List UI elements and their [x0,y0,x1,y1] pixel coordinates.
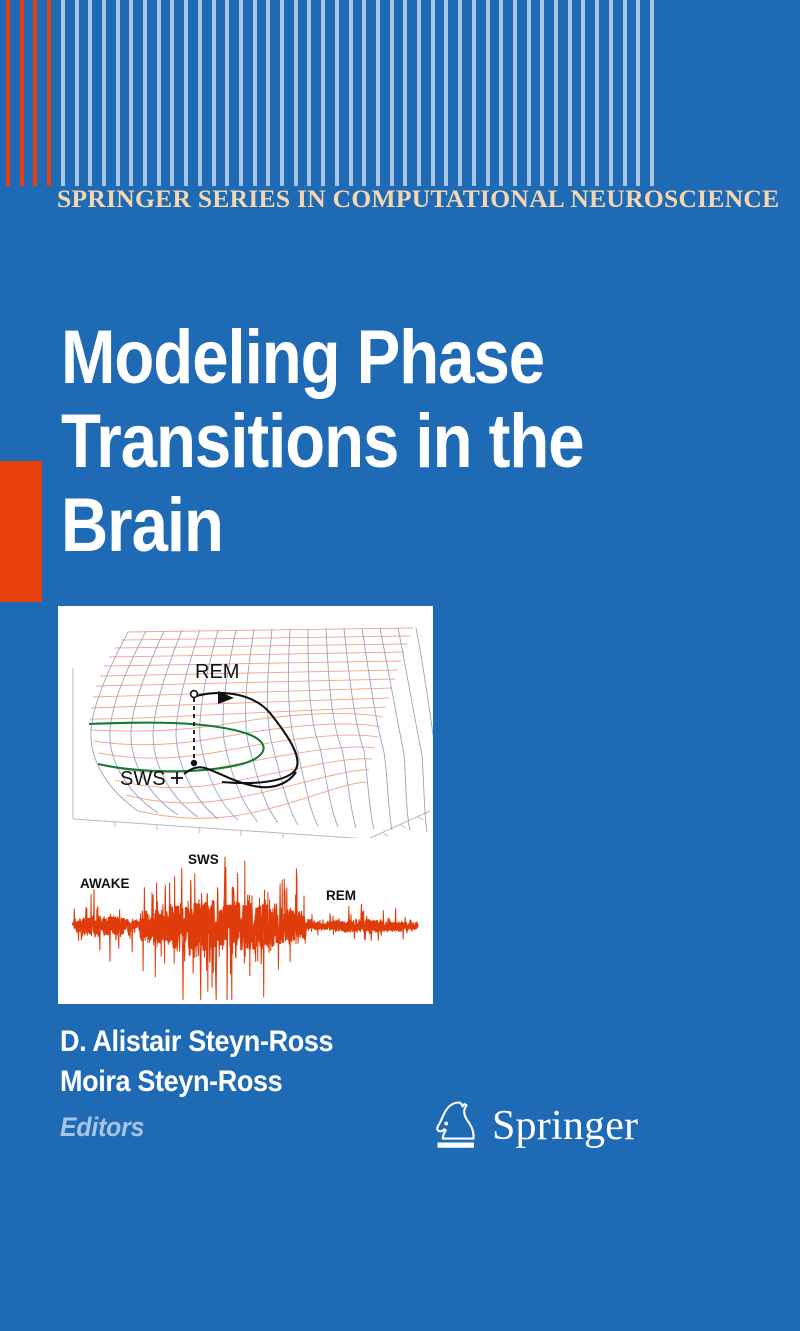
stripe [307,0,311,186]
stripe [431,0,435,186]
stripe [116,0,120,186]
stripe [417,0,421,186]
stripe [458,0,462,186]
title-line-1: Modeling Phase [61,316,629,400]
rem-point-marker [191,691,198,698]
stripe [554,0,558,186]
stripe [362,0,366,186]
stripe [623,0,627,186]
stripe [266,0,270,186]
springer-knight-icon [432,1097,484,1155]
cover-artwork: REM SWS AWAKE SWS REM [58,606,433,1004]
book-cover: SPRINGER SERIES IN COMPUTATIONAL NEUROSC… [0,0,800,1331]
stripe [472,0,476,186]
stripe [33,0,37,186]
stripe-band [0,0,660,186]
stripe [444,0,448,186]
stripe [198,0,202,186]
stripe [129,0,133,186]
stripe [170,0,174,186]
orange-accent-block [0,461,42,602]
stripe [499,0,503,186]
stripe [609,0,613,186]
stripe [568,0,572,186]
stripe [376,0,380,186]
stripe [540,0,544,186]
stripe [6,0,10,186]
stripe [225,0,229,186]
stripe [143,0,147,186]
stripe [61,0,65,186]
rem-label: REM [195,661,239,683]
eeg-rem-label: REM [326,888,356,903]
series-banner: SPRINGER SERIES IN COMPUTATIONAL NEUROSC… [0,186,800,234]
stripe [513,0,517,186]
stripe [636,0,640,186]
series-title: SPRINGER SERIES IN COMPUTATIONAL NEUROSC… [57,186,779,212]
stripe [253,0,257,186]
stripe [20,0,24,186]
stripe [102,0,106,186]
title-line-2: Transitions in the [61,400,629,484]
stripe [581,0,585,186]
stripe [650,0,654,186]
surface-plot-figure: REM SWS [58,606,433,841]
stripe [349,0,353,186]
stripe [486,0,490,186]
stripe [47,0,51,186]
stripe [390,0,394,186]
eeg-awake-label: AWAKE [80,876,130,891]
stripe [184,0,188,186]
stripe [321,0,325,186]
stripe [335,0,339,186]
publisher-logo: Springer [432,1095,622,1157]
page-title: Modeling Phase Transitions in the Brain [61,316,721,568]
author-name-1: D. Alistair Steyn-Ross [60,1022,510,1062]
title-line-3: Brain [61,484,629,568]
stripe [239,0,243,186]
stripe [280,0,284,186]
stripe [75,0,79,186]
publisher-name: Springer [492,1105,638,1147]
stripe [212,0,216,186]
eeg-trace-figure: AWAKE SWS REM [58,838,433,1004]
eeg-sws-label: SWS [188,852,219,867]
sws-label: SWS [120,768,166,790]
stripe [88,0,92,186]
stripe [403,0,407,186]
stripe [527,0,531,186]
stripe [157,0,161,186]
sws-point-marker [191,760,197,766]
stripe [595,0,599,186]
stripe [294,0,298,186]
